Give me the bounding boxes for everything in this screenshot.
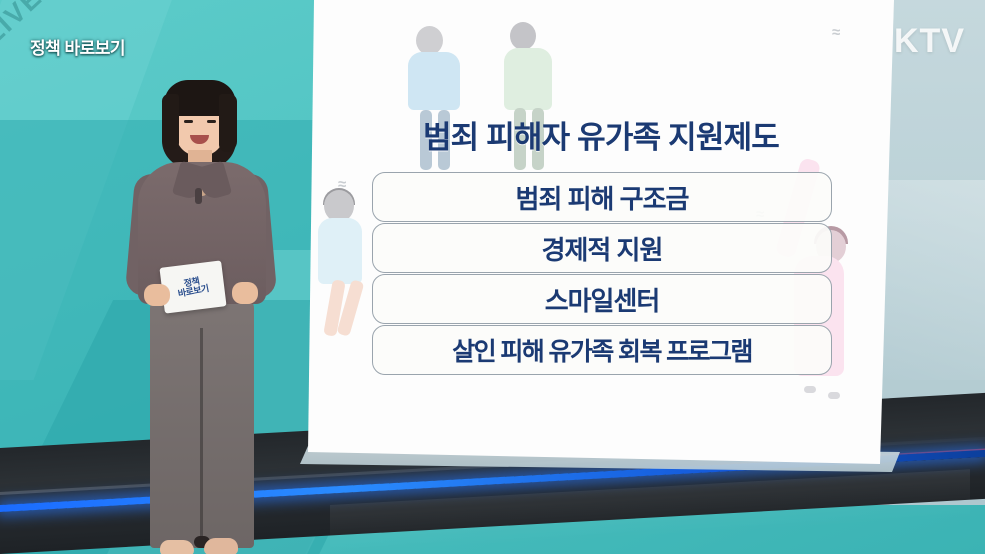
sparkle-left-icon: ≈: [338, 176, 346, 193]
sparkle-right-icon: ≈: [832, 24, 840, 41]
list-item[interactable]: 살인 피해 유가족 회복 프로그램: [372, 325, 832, 375]
presenter-hair-right: [219, 94, 237, 152]
cue-card-line-2: 바로보기: [178, 283, 210, 299]
list-item-label: 살인 피해 유가족 회복 프로그램: [452, 332, 752, 368]
cue-card-text: 정책 바로보기: [176, 275, 210, 299]
presenter-cue-card: 정책 바로보기: [159, 260, 226, 313]
list-item-label: 경제적 지원: [542, 230, 663, 267]
panel-title: 범죄 피해자 유가족 지원제도: [308, 112, 894, 157]
presenter-hand-right: [232, 282, 258, 304]
presenter-shoe-right: [204, 538, 238, 554]
presenter-shoe-left: [160, 540, 194, 554]
channel-logo: KTV: [894, 22, 965, 61]
presenter-figure: 정책 바로보기: [120, 78, 280, 548]
presenter-eye-right: [207, 120, 216, 123]
broadcast-screen: LIVE KOREA LIVE ≈ ≈ ≈ 범죄 피해자 유가족 지원제도: [0, 0, 985, 554]
presenter-hand-left: [144, 284, 170, 306]
program-title-overlay: 정책 바로보기: [30, 34, 125, 59]
presenter-eye-left: [184, 120, 193, 123]
list-item[interactable]: 스마일센터: [372, 274, 832, 324]
list-item[interactable]: 범죄 피해 구조금: [372, 172, 832, 222]
support-program-list: 범죄 피해 구조금 경제적 지원 스마일센터 살인 피해 유가족 회복 프로그램: [372, 172, 832, 376]
list-item[interactable]: 경제적 지원: [372, 223, 832, 273]
presentation-panel: ≈ ≈ ≈ 범죄 피해자 유가족 지원제도 범죄 피해 구조금 경제적 지원 스…: [308, 0, 894, 480]
list-item-label: 범죄 피해 구조금: [516, 179, 689, 216]
presenter-trouser-seam: [200, 328, 203, 543]
presenter-lapel-mic-icon: [195, 188, 202, 204]
list-item-label: 스마일센터: [545, 281, 660, 318]
presenter-hair-left: [162, 94, 179, 150]
